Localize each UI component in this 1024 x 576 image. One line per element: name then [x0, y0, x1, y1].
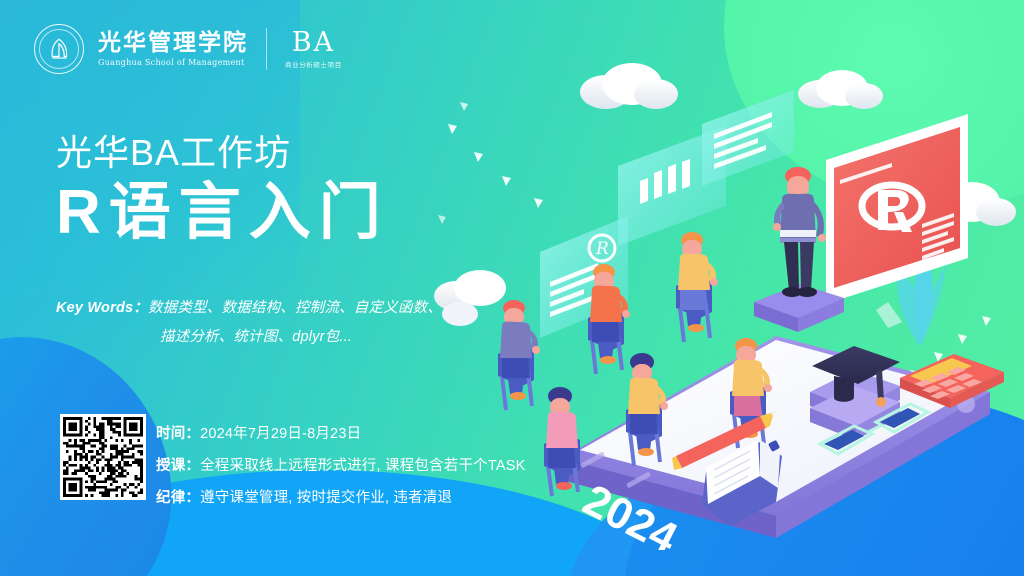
qr-code[interactable]: [60, 414, 146, 500]
school-name-block: 光华管理学院 Guanghua School of Management: [98, 31, 248, 66]
info-row-discipline: 纪律：遵守课堂管理, 按时提交作业, 违者清退: [156, 482, 525, 514]
r-language-screen: [826, 114, 968, 328]
info-row-teaching: 授课：全程采取线上远程形式进行, 课程包含若干个TASK: [156, 450, 525, 482]
brand-logo: 光华管理学院 Guanghua School of Management BA …: [34, 24, 342, 74]
info-label-time: 时间：: [156, 426, 200, 442]
logo-divider: [266, 28, 267, 70]
info-value-time: 2024年7月29日-8月23日: [200, 426, 361, 442]
keywords-line-1: Key Words：数据类型、数据结构、控制流、自定义函数、: [56, 294, 456, 323]
info-label-discipline: 纪律：: [156, 490, 200, 506]
school-name-cn: 光华管理学院: [98, 31, 248, 55]
keywords-block: Key Words：数据类型、数据结构、控制流、自定义函数、 描述分析、统计图、…: [56, 294, 456, 352]
info-label-teaching: 授课：: [156, 458, 200, 474]
student-figure: [498, 300, 540, 410]
program-logo: BA 商业分析硕士项目: [285, 29, 342, 69]
student-figure: [676, 232, 718, 342]
cloud-icon: [580, 63, 678, 109]
text-panel: [702, 90, 794, 186]
keywords-line-2: 描述分析、统计图、dplyr包...: [56, 323, 456, 352]
keywords-label: Key Words：: [56, 300, 148, 316]
student-figure: [544, 387, 580, 496]
peking-university-seal-icon: [34, 24, 84, 74]
info-value-discipline: 遵守课堂管理, 按时提交作业, 违者清退: [200, 490, 452, 506]
svg-text:R: R: [595, 239, 609, 259]
headline-block: 光华BA工作坊 R语言入门: [56, 132, 389, 248]
keywords-text-1: 数据类型、数据结构、控制流、自定义函数、: [148, 300, 442, 316]
program-name-cn: 商业分析硕士项目: [285, 59, 342, 69]
poster-canvas: R: [0, 0, 1024, 576]
info-value-teaching: 全程采取线上远程形式进行, 课程包含若干个TASK: [200, 458, 525, 474]
cloud-icon: [798, 70, 883, 109]
workshop-eyebrow: 光华BA工作坊: [56, 132, 389, 173]
school-name-en: Guanghua School of Management: [98, 58, 248, 67]
presenter-figure: [773, 167, 826, 297]
info-row-time: 时间：2024年7月29日-8月23日: [156, 418, 525, 450]
program-abbr: BA: [292, 29, 335, 56]
page-title: R语言入门: [56, 179, 389, 247]
info-list: 时间：2024年7月29日-8月23日 授课：全程采取线上远程形式进行, 课程包…: [156, 418, 525, 514]
